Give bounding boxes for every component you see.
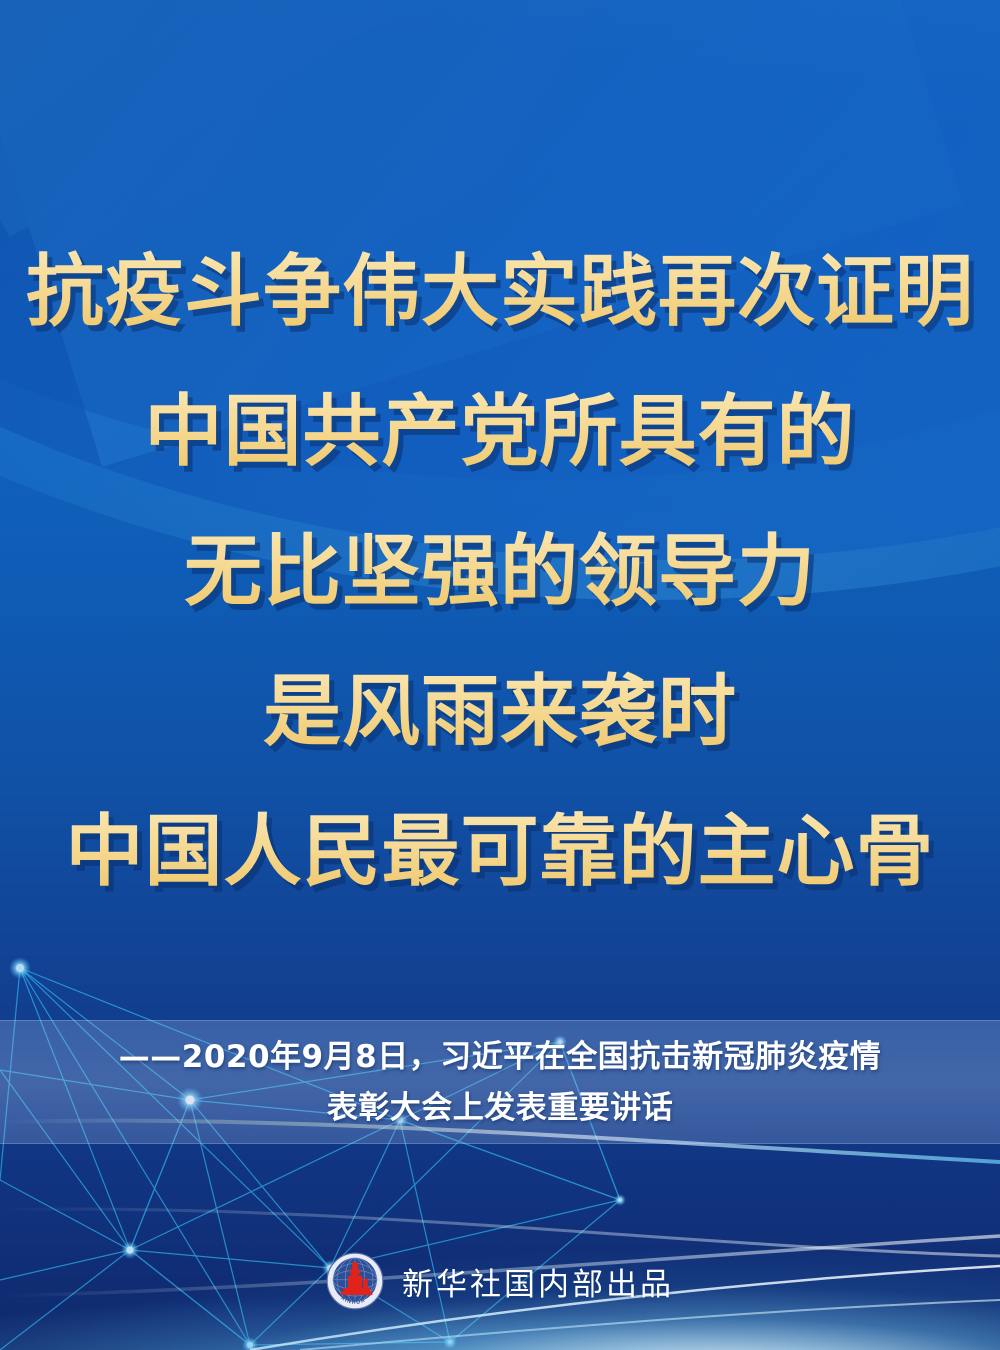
attribution-line-1: ——2020年9月8日，习近平在全国抗击新冠肺炎疫情: [0, 1032, 1000, 1083]
attribution-line-2: 表彰大会上发表重要讲话: [0, 1083, 1000, 1134]
headline-line-4: 是风雨来袭时: [0, 642, 1000, 782]
footer-label: 新华社国内部出品: [402, 1259, 674, 1304]
poster-canvas: 抗疫斗争伟大实践再次证明 中国共产党所具有的 无比坚强的领导力 是风雨来袭时 中…: [0, 0, 1000, 1350]
xinhua-logo-icon: XINHUA: [326, 1252, 384, 1310]
headline-line-3: 无比坚强的领导力: [0, 502, 1000, 642]
footer-block: XINHUA 新华社国内部出品: [0, 1252, 1000, 1310]
headline-line-5: 中国人民最可靠的主心骨: [0, 782, 1000, 922]
headline-block: 抗疫斗争伟大实践再次证明 中国共产党所具有的 无比坚强的领导力 是风雨来袭时 中…: [0, 222, 1000, 922]
attribution-block: ——2020年9月8日，习近平在全国抗击新冠肺炎疫情 表彰大会上发表重要讲话: [0, 1032, 1000, 1134]
headline-line-1: 抗疫斗争伟大实践再次证明: [0, 222, 1000, 362]
headline-line-2: 中国共产党所具有的: [0, 362, 1000, 502]
